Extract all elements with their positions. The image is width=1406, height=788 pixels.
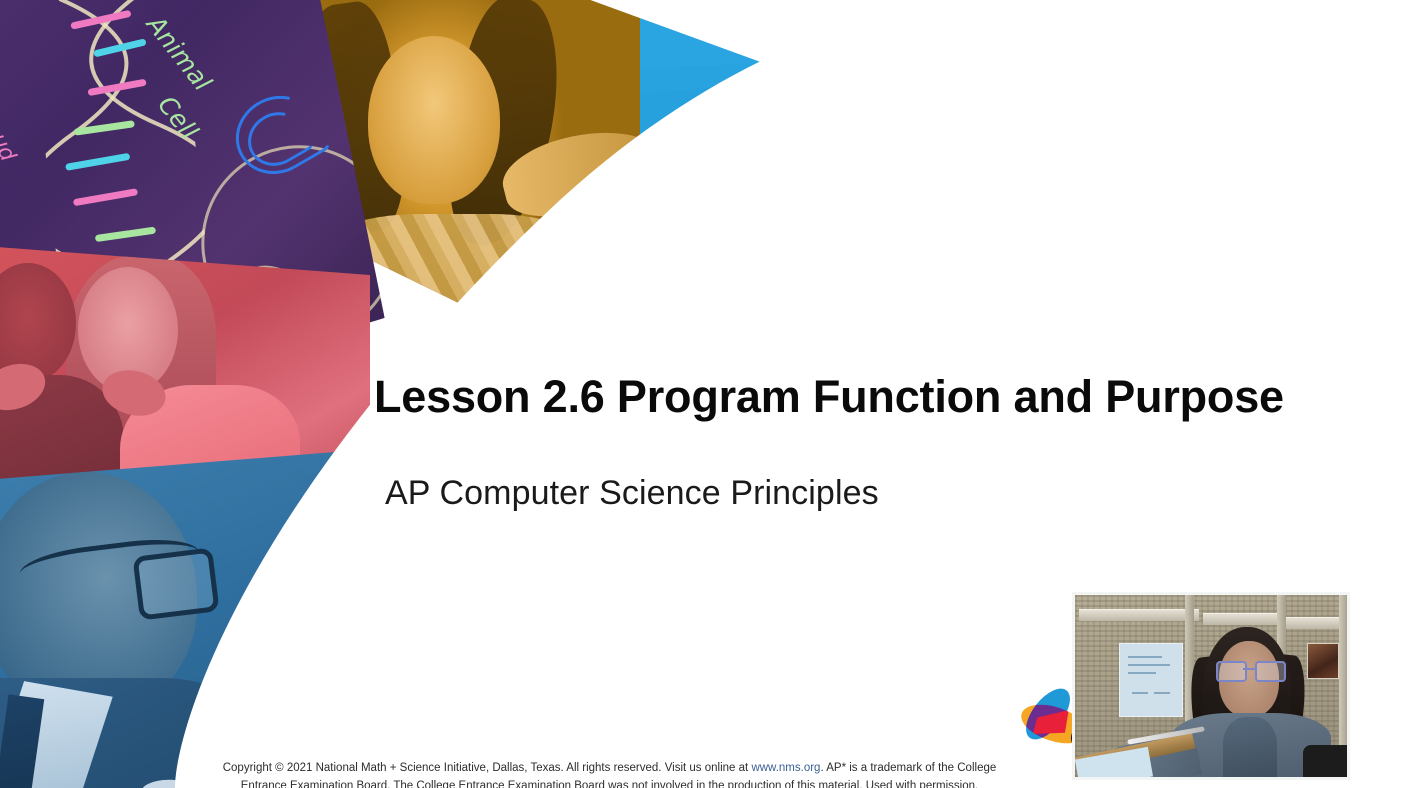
presenter-glasses [1216, 661, 1282, 679]
copyright-line1-post: . AP* is a trademark of the College [820, 762, 996, 774]
copyright-notice: Copyright © 2021 National Math + Science… [212, 760, 1007, 788]
handwriting-phosphate: phosphate [0, 50, 19, 166]
presenter-video-feed[interactable] [1072, 592, 1350, 780]
cubicle-rail [1203, 613, 1279, 625]
cubicle-rail [1079, 609, 1199, 621]
slide-title: Lesson 2.6 Program Function and Purpose [374, 372, 1354, 422]
eyeglasses-detail [132, 547, 219, 620]
photo-detail [368, 36, 500, 204]
office-chair [1303, 745, 1350, 780]
presentation-slide: Animal Cell phosphate sugar My [0, 0, 1406, 788]
copyright-line2: Entrance Examination Board. The College … [241, 780, 978, 788]
pinned-photo [1307, 643, 1339, 679]
nms-website-link[interactable]: www.nms.org [751, 762, 820, 774]
slide-subtitle: AP Computer Science Principles [385, 474, 1185, 513]
copyright-line1-pre: Copyright © 2021 National Math + Science… [223, 762, 752, 774]
pinned-document [1119, 643, 1183, 717]
presenter-detail [1223, 717, 1277, 780]
